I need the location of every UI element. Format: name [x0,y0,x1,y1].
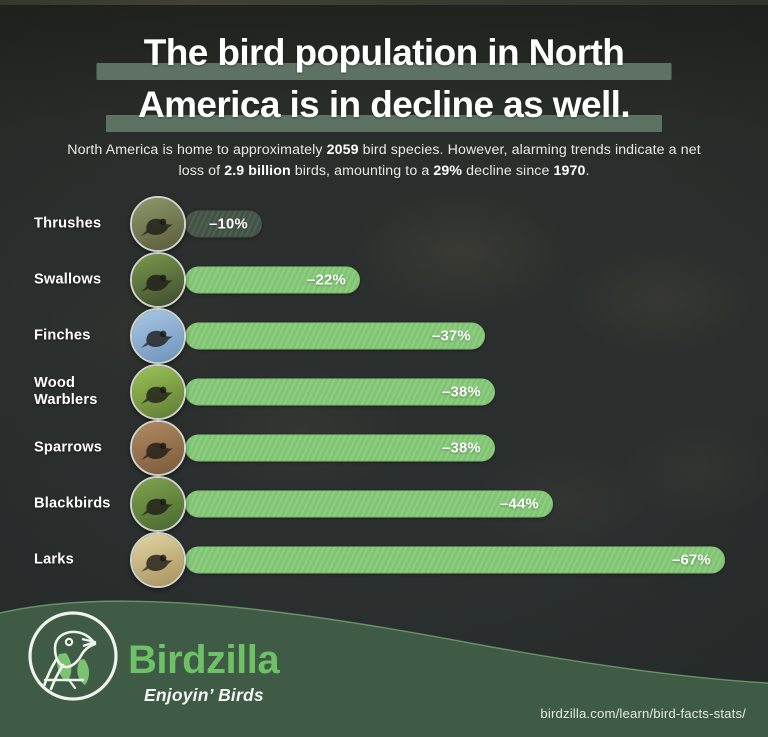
row-label-blackbirds: Blackbirds [34,496,138,513]
subtitle-seg-5: decline since [462,163,553,179]
title-line-2: America is in decline as well. [0,83,768,135]
bar-value-label: –37% [432,328,485,344]
bar-value-label: –10% [209,216,262,232]
chart-row: Thrushes–10% [0,196,768,252]
subtitle-stat-percent: 29% [433,163,462,179]
row-label-finches: Finches [34,328,138,345]
title-line-1: The bird population in North [0,31,768,83]
bar-track: –38% [185,435,495,462]
subtitle: North America is home to approximately 2… [64,140,704,182]
page-title: The bird population in North America is … [0,31,768,135]
row-label-thrushes: Thrushes [34,216,138,233]
subtitle-seg-6: . [586,163,590,179]
chart-row: Finches–37% [0,308,768,364]
bar[interactable]: –38% [185,435,495,462]
bird-silhouette-icon [141,271,175,293]
subtitle-seg-2: bird species. However, alarming trends [359,142,611,158]
row-label-larks: Larks [34,552,138,569]
bird-silhouette-icon [141,215,175,237]
bar-track: –38% [185,379,495,406]
chart-row: Swallows–22% [0,252,768,308]
sparrow-photo[interactable] [130,420,186,476]
bird-silhouette-icon [141,439,175,461]
chart-row: WoodWarblers–38% [0,364,768,420]
bar-track: –37% [185,323,485,350]
bar[interactable]: –10% [185,211,262,238]
bar-track: –22% [185,267,360,294]
bar-track: –44% [185,491,553,518]
bar-value-label: –44% [500,496,553,512]
swallow-photo[interactable] [130,252,186,308]
footer: Birdzilla Enjoyin’ Birds birdzilla.com/l… [0,607,768,737]
title-text-2: America is in decline as well. [138,84,630,125]
thrush-photo[interactable] [130,196,186,252]
bar[interactable]: –67% [185,547,725,574]
title-text-1: The bird population in North [144,32,625,73]
chart-row: Blackbirds–44% [0,476,768,532]
bird-silhouette-icon [141,495,175,517]
subtitle-stat-species: 2059 [327,142,359,158]
bar-value-label: –67% [672,552,725,568]
birdzilla-logo-icon[interactable] [25,608,121,704]
row-label-swallows: Swallows [34,272,138,289]
finch-photo[interactable] [130,308,186,364]
row-label-wood-warblers: WoodWarblers [34,375,138,409]
source-url[interactable]: birdzilla.com/learn/bird-facts-stats/ [540,706,746,721]
bird-silhouette-icon [141,327,175,349]
infographic-canvas: The bird population in North America is … [0,0,768,737]
bar[interactable]: –38% [185,379,495,406]
blackbird-photo[interactable] [130,476,186,532]
bar-track: –67% [185,547,725,574]
bar-value-label: –38% [442,440,495,456]
bar-track: –10% [185,211,262,238]
bar[interactable]: –44% [185,491,553,518]
subtitle-seg-4: birds, amounting to a [291,163,434,179]
wood-warbler-photo[interactable] [130,364,186,420]
subtitle-stat-loss: 2.9 billion [224,163,291,179]
bird-silhouette-icon [141,383,175,405]
brand-name: Birdzilla [128,640,279,680]
top-edge-strip [0,0,768,5]
bird-silhouette-icon [141,551,175,573]
bar-value-label: –38% [442,384,495,400]
row-label-sparrows: Sparrows [34,440,138,457]
brand-tagline: Enjoyin’ Birds [144,685,264,706]
chart-row: Sparrows–38% [0,420,768,476]
bar-value-label: –22% [307,272,360,288]
bar[interactable]: –37% [185,323,485,350]
subtitle-seg-1: North America is home to approximately [67,142,326,158]
bar[interactable]: –22% [185,267,360,294]
subtitle-stat-year: 1970 [554,163,586,179]
